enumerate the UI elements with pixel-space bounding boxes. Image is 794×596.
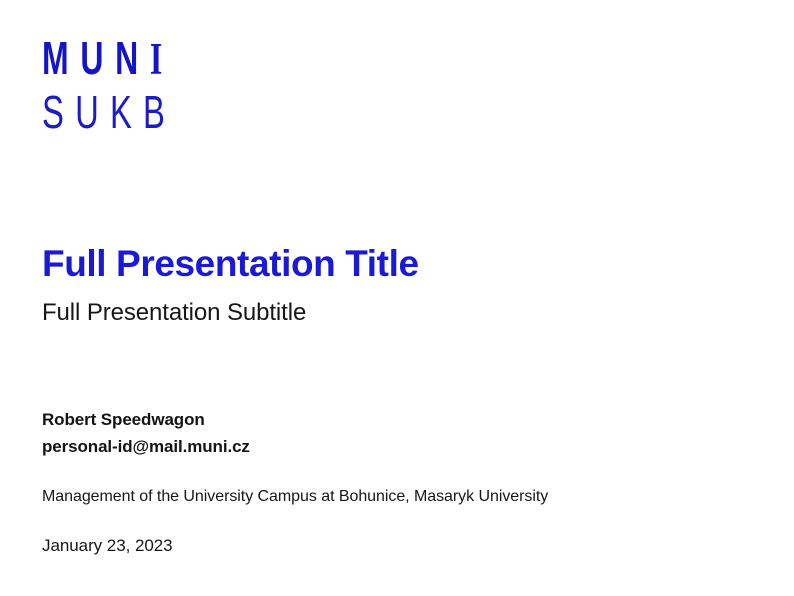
logo-letter-u: U bbox=[80, 33, 115, 85]
muni-sukb-logo: MUNI SUKB bbox=[42, 36, 302, 130]
logo-letter-i: I bbox=[150, 33, 162, 85]
author-email: personal-id@mail.muni.cz bbox=[42, 433, 762, 460]
title-block: Full Presentation Title Full Presentatio… bbox=[42, 243, 742, 328]
presentation-date: January 23, 2023 bbox=[42, 534, 762, 558]
page-title: Full Presentation Title bbox=[42, 243, 742, 285]
page-subtitle: Full Presentation Subtitle bbox=[42, 299, 742, 328]
logo-muni-wordmark: MUNI bbox=[42, 36, 245, 81]
presenter-meta-block: Robert Speedwagon personal-id@mail.muni.… bbox=[42, 406, 762, 558]
logo-letter-n: N bbox=[115, 33, 150, 85]
presentation-title-slide: MUNI SUKB Full Presentation Title Full P… bbox=[0, 0, 794, 596]
logo-letter-m: M bbox=[42, 33, 80, 85]
logo-sukb-wordmark: SUKB bbox=[42, 89, 250, 136]
author-name: Robert Speedwagon bbox=[42, 406, 762, 433]
affiliation-line: Management of the University Campus at B… bbox=[42, 486, 762, 508]
